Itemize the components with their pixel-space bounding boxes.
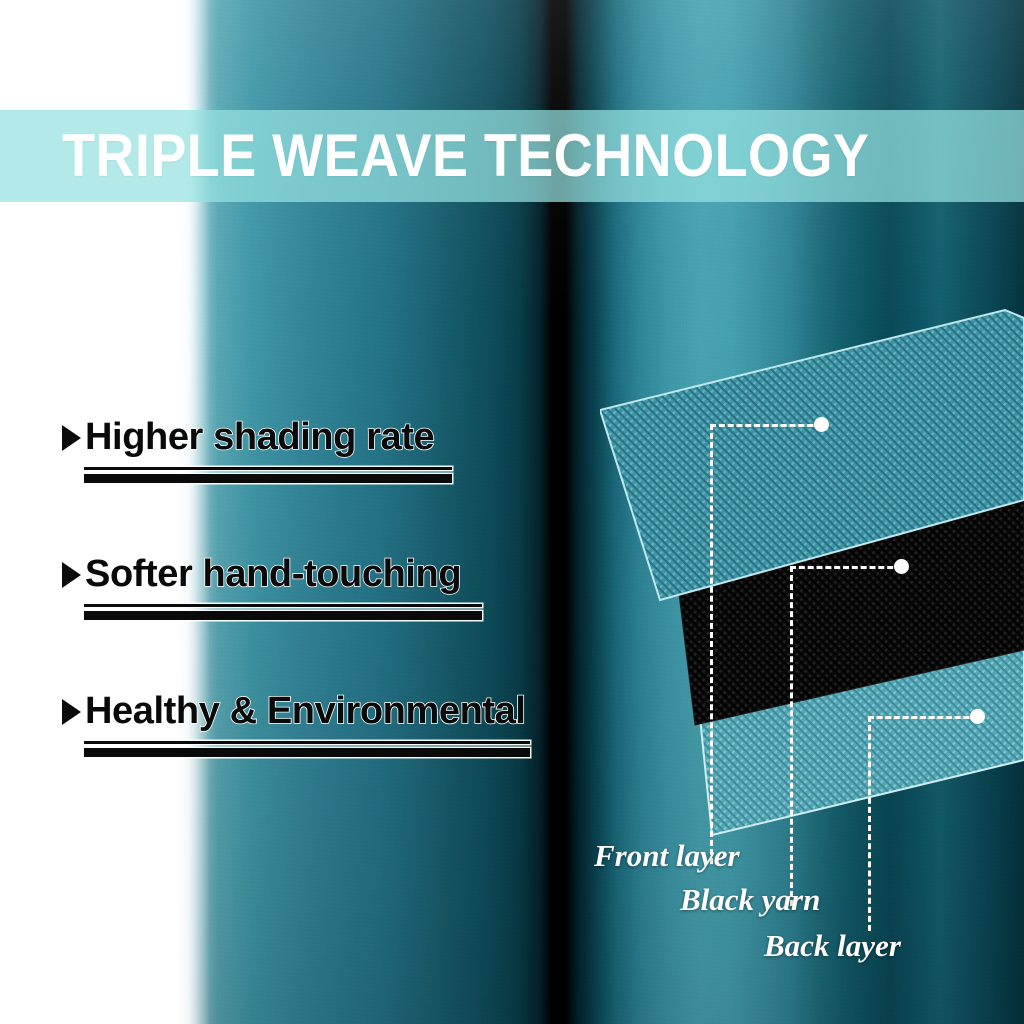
feature-label: Higher shading rate (85, 418, 434, 458)
layer-sheets (600, 290, 1024, 850)
feature-label: Healthy & Environmental (85, 692, 526, 732)
leader-line-back-horizontal (868, 716, 978, 719)
feature-heading: Healthy & Environmental (62, 692, 562, 732)
label-front-layer: Front layer (594, 838, 740, 874)
feature-item: Higher shading rate (62, 418, 562, 483)
triple-weave-layer-diagram: Front layer Black yarn Back layer (600, 290, 1024, 850)
feature-item: Healthy & Environmental (62, 692, 562, 757)
callout-dot-back (970, 709, 985, 724)
callout-dot-black (894, 559, 909, 574)
headline-text: TRIPLE WEAVE TECHNOLOGY (62, 126, 869, 186)
callout-dot-front (814, 417, 829, 432)
feature-underline (84, 604, 482, 620)
product-feature-image: TRIPLE WEAVE TECHNOLOGY Higher shading r… (0, 0, 1024, 1024)
triangle-right-icon (62, 699, 81, 725)
leader-line-back-vertical (868, 716, 871, 931)
leader-line-black-vertical (790, 566, 793, 906)
underline-thick (84, 611, 482, 620)
leader-line-black-horizontal (790, 566, 902, 569)
underline-thin (84, 604, 482, 607)
triangle-right-icon (62, 562, 81, 588)
underline-thick (84, 474, 452, 483)
feature-label: Softer hand-touching (85, 555, 461, 595)
headline-banner: TRIPLE WEAVE TECHNOLOGY (0, 110, 1024, 202)
triangle-right-icon (62, 425, 81, 451)
underline-thin (84, 741, 530, 744)
feature-list: Higher shading rate Softer hand-touching… (62, 418, 562, 829)
underline-thick (84, 748, 530, 757)
feature-underline (84, 741, 530, 757)
underline-thin (84, 467, 452, 470)
leader-line-front-horizontal (710, 424, 822, 427)
feature-underline (84, 467, 452, 483)
feature-item: Softer hand-touching (62, 555, 562, 620)
feature-heading: Softer hand-touching (62, 555, 562, 595)
feature-heading: Higher shading rate (62, 418, 562, 458)
label-black-yarn: Black yarn (680, 882, 820, 918)
leader-line-front-vertical (710, 424, 713, 864)
label-back-layer: Back layer (764, 928, 901, 964)
